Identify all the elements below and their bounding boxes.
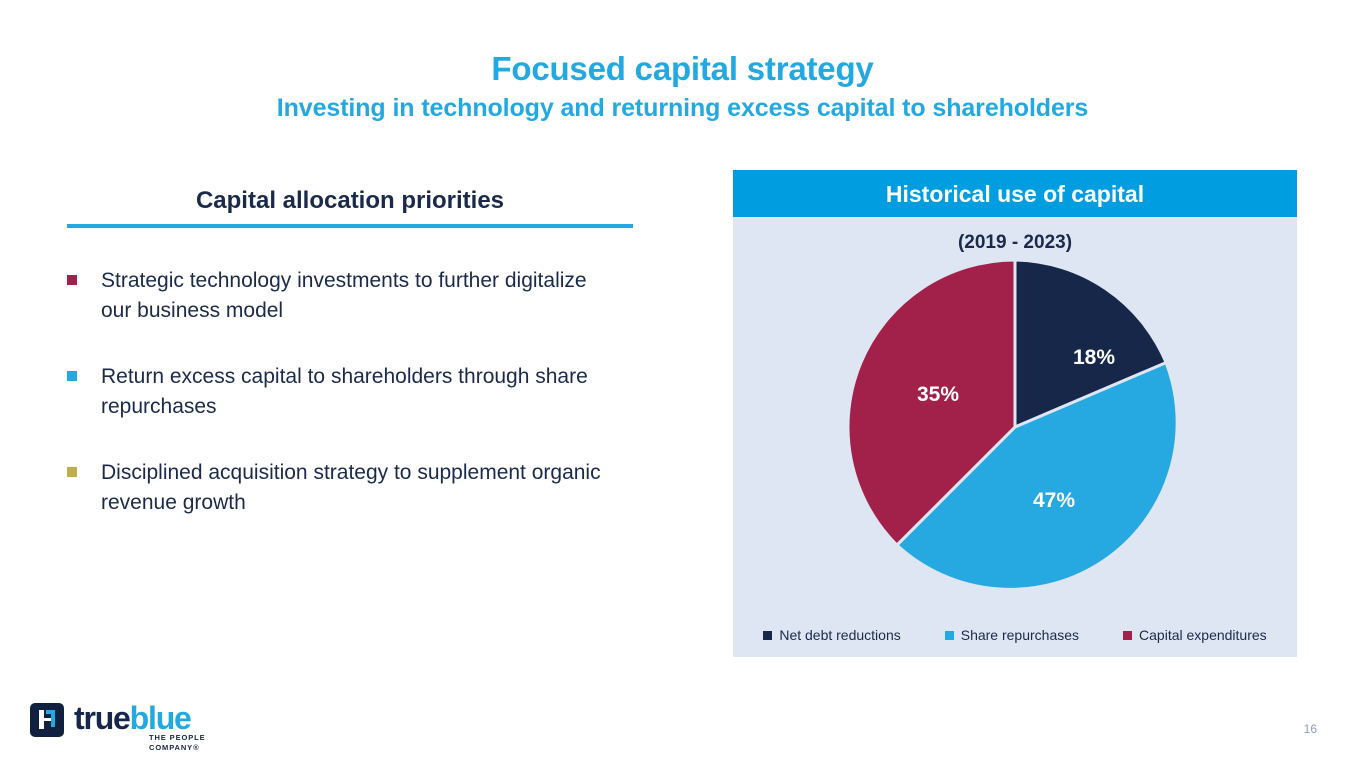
bullet-square-icon: [67, 275, 77, 285]
legend-swatch-icon: [1123, 631, 1132, 640]
legend-swatch-icon: [945, 631, 954, 640]
panel-header: Historical use of capital: [733, 170, 1297, 217]
bullet-square-icon: [67, 467, 77, 477]
list-item: Return excess capital to shareholders th…: [67, 362, 633, 422]
legend-label: Net debt reductions: [779, 627, 900, 643]
panel-header-label: Historical use of capital: [886, 181, 1144, 207]
legend-label: Share repurchases: [961, 627, 1079, 643]
legend-label: Capital expenditures: [1139, 627, 1267, 643]
list-item: Disciplined acquisition strategy to supp…: [67, 458, 633, 518]
list-item-label: Disciplined acquisition strategy to supp…: [101, 458, 616, 518]
heading-divider: [67, 224, 633, 228]
pie-chart-svg: [835, 257, 1195, 597]
page-title: Focused capital strategy: [0, 48, 1365, 90]
tb-monogram-icon: [30, 703, 64, 737]
chart-legend: Net debt reductions Share repurchases Ca…: [733, 627, 1297, 643]
list-item-label: Strategic technology investments to furt…: [101, 266, 616, 326]
panel-subheader-label: (2019 - 2023): [733, 231, 1297, 255]
page-subtitle: Investing in technology and returning ex…: [0, 90, 1365, 126]
trueblue-logo: trueblue THE PEOPLE COMPANY®: [30, 700, 215, 748]
historical-use-of-capital-panel: Historical use of capital (2019 - 2023) …: [733, 170, 1297, 657]
slide-root: Focused capital strategy Investing in te…: [0, 0, 1365, 768]
capital-allocation-section: Capital allocation priorities Strategic …: [67, 186, 633, 518]
legend-item-share-repurchases[interactable]: Share repurchases: [945, 627, 1079, 643]
legend-item-capital-expenditures[interactable]: Capital expenditures: [1123, 627, 1267, 643]
pie-chart: 18% 47% 35%: [733, 257, 1297, 602]
page-number: 16: [1304, 722, 1317, 736]
logo-word-blue: blue: [130, 700, 191, 736]
bullet-list: Strategic technology investments to furt…: [67, 266, 633, 518]
trueblue-logomark-icon: [30, 703, 64, 737]
bullet-square-icon: [67, 371, 77, 381]
logo-wordmark: trueblue: [74, 700, 191, 736]
legend-swatch-icon: [763, 631, 772, 640]
logo-tagline: THE PEOPLE COMPANY®: [149, 733, 215, 753]
legend-item-net-debt-reductions[interactable]: Net debt reductions: [763, 627, 900, 643]
title-block: Focused capital strategy Investing in te…: [0, 48, 1365, 126]
section-heading: Capital allocation priorities: [67, 186, 633, 216]
list-item: Strategic technology investments to furt…: [67, 266, 633, 326]
list-item-label: Return excess capital to shareholders th…: [101, 362, 616, 422]
logo-word-true: true: [74, 700, 130, 736]
